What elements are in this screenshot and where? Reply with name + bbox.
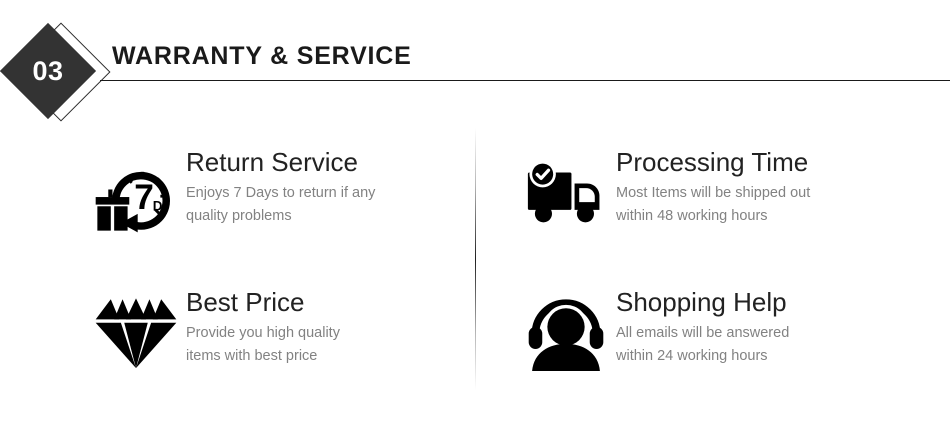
warranty-service-banner: 03 WARRANTY & SERVICE bbox=[0, 0, 950, 428]
feature-item-shopping-help: Shopping Help All emails will be answere… bbox=[516, 284, 789, 380]
delivery-truck-check-icon bbox=[516, 144, 616, 240]
feature-text-block: Shopping Help All emails will be answere… bbox=[616, 284, 789, 367]
feature-description-line-1: Most Items will be shipped out bbox=[616, 182, 810, 204]
feature-description: Most Items will be shipped out within 48… bbox=[616, 182, 810, 227]
feature-title: Processing Time bbox=[616, 148, 810, 176]
feature-description-line-1: All emails will be answered bbox=[616, 322, 789, 344]
feature-item-return-service: 7 D Return Service Enjoys 7 Days to retu… bbox=[86, 144, 375, 240]
column-divider bbox=[475, 128, 476, 390]
feature-item-processing-time: Processing Time Most Items will be shipp… bbox=[516, 144, 810, 240]
feature-title: Return Service bbox=[186, 148, 375, 176]
feature-title: Shopping Help bbox=[616, 288, 789, 316]
feature-description-line-1: Enjoys 7 Days to return if any bbox=[186, 182, 375, 204]
badge-number-label: 03 bbox=[14, 37, 82, 105]
gift-clock-7-days-icon: 7 D bbox=[86, 144, 186, 240]
feature-description-line-2: within 48 working hours bbox=[616, 205, 810, 227]
feature-description-line-2: quality problems bbox=[186, 205, 375, 227]
section-number-badge: 03 bbox=[4, 28, 114, 128]
feature-description: All emails will be answered within 24 wo… bbox=[616, 322, 789, 367]
headset-support-agent-icon bbox=[516, 284, 616, 380]
section-header: 03 WARRANTY & SERVICE bbox=[0, 0, 950, 128]
svg-text:7: 7 bbox=[134, 178, 154, 217]
feature-description: Enjoys 7 Days to return if any quality p… bbox=[186, 182, 375, 227]
feature-description-line-2: within 24 working hours bbox=[616, 345, 789, 367]
svg-text:D: D bbox=[153, 198, 163, 213]
page-title: WARRANTY & SERVICE bbox=[112, 44, 412, 69]
header-divider-rule bbox=[100, 80, 950, 81]
feature-text-block: Best Price Provide you high quality item… bbox=[186, 284, 340, 367]
feature-item-best-price: Best Price Provide you high quality item… bbox=[86, 284, 340, 380]
feature-text-block: Processing Time Most Items will be shipp… bbox=[616, 144, 810, 227]
feature-description-line-2: items with best price bbox=[186, 345, 340, 367]
feature-title: Best Price bbox=[186, 288, 340, 316]
feature-text-block: Return Service Enjoys 7 Days to return i… bbox=[186, 144, 375, 227]
features-grid: 7 D Return Service Enjoys 7 Days to retu… bbox=[0, 128, 950, 428]
feature-description-line-1: Provide you high quality bbox=[186, 322, 340, 344]
diamond-gem-icon bbox=[86, 284, 186, 380]
feature-description: Provide you high quality items with best… bbox=[186, 322, 340, 367]
